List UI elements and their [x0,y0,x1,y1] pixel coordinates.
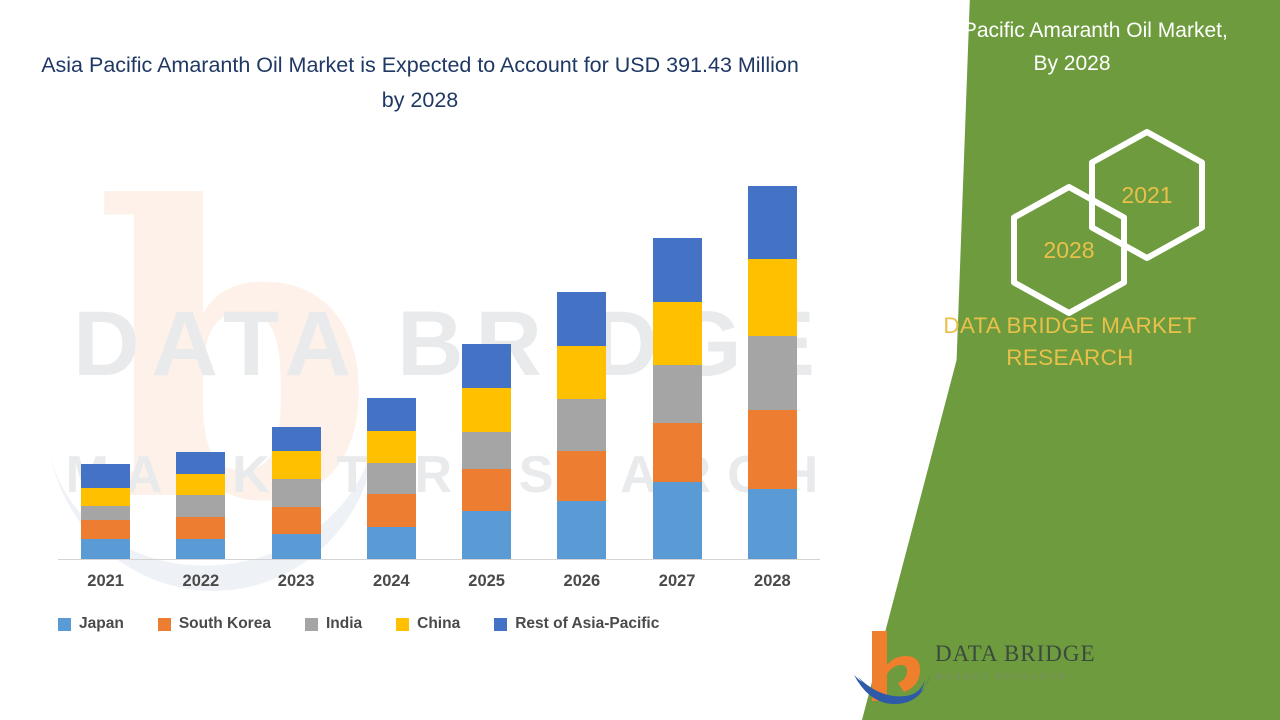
chart-panel: b DATA BRIDGE MARKET RESEARCH Asia Pacif… [0,0,900,720]
bar-segment[interactable] [367,527,416,559]
x-axis-label-2025: 2025 [439,572,534,591]
bar-segment[interactable] [557,451,606,500]
hexagon-2028-label: 2028 [1010,183,1128,317]
bar-segment[interactable] [748,489,797,559]
x-axis-label-2026: 2026 [534,572,629,591]
bar-segment[interactable] [81,539,130,559]
bar-segment[interactable] [272,451,321,478]
bar-segment[interactable] [748,410,797,489]
brand-panel: Asia Pacific Amaranth Oil Market, By 202… [840,0,1280,720]
bar-column-2024 [344,170,439,559]
bar-segment[interactable] [176,495,225,517]
brand-panel-title: Asia Pacific Amaranth Oil Market, By 202… [902,14,1242,80]
x-axis-labels: 20212022202320242025202620272028 [58,572,820,591]
legend-label: South Korea [179,615,271,633]
bar-column-2028 [725,170,820,559]
legend-item-south-korea[interactable]: South Korea [158,615,271,633]
bar-segment[interactable] [557,346,606,399]
x-axis-label-2028: 2028 [725,572,820,591]
x-axis-label-2022: 2022 [153,572,248,591]
bar-segment[interactable] [272,479,321,507]
logo-secondary-text: MARKET RESEARCH [935,671,1075,681]
bar-column-2023 [249,170,344,559]
legend-label: China [417,615,460,633]
chart-plot-area [58,170,820,560]
bar-stack[interactable] [557,292,606,559]
bar-segment[interactable] [272,427,321,451]
bar-segment[interactable] [653,365,702,423]
x-axis-label-2024: 2024 [344,572,439,591]
legend-item-rest-of-asia-pacific[interactable]: Rest of Asia-Pacific [494,615,659,633]
bar-segment[interactable] [176,539,225,559]
bar-segment[interactable] [462,511,511,559]
bar-column-2025 [439,170,534,559]
bar-segment[interactable] [557,292,606,346]
bar-stack[interactable] [272,427,321,559]
legend-swatch-icon [396,618,409,631]
bar-segment[interactable] [557,399,606,451]
chart-legend: JapanSouth KoreaIndiaChinaRest of Asia-P… [58,615,820,633]
x-axis-label-2021: 2021 [58,572,153,591]
bar-stack[interactable] [462,344,511,559]
legend-swatch-icon [58,618,71,631]
bar-segment[interactable] [367,431,416,463]
chart-title: Asia Pacific Amaranth Oil Market is Expe… [40,48,800,118]
bar-stack[interactable] [81,464,130,559]
bar-segment[interactable] [81,464,130,488]
hexagon-group: 2021 2028 [840,118,1280,288]
bar-segment[interactable] [653,423,702,481]
logo-text: DATA BRIDGE MARKET RESEARCH [935,641,1075,681]
bar-segment[interactable] [557,501,606,559]
bar-stack[interactable] [653,238,702,559]
legend-item-japan[interactable]: Japan [58,615,124,633]
bar-segment[interactable] [653,482,702,559]
bar-segment[interactable] [367,463,416,494]
data-bridge-logo: DATA BRIDGE MARKET RESEARCH [850,625,1080,707]
bar-column-2027 [630,170,725,559]
bar-stack[interactable] [176,452,225,559]
bar-stack[interactable] [748,186,797,559]
bar-segment[interactable] [653,302,702,365]
bar-segment[interactable] [462,432,511,468]
legend-swatch-icon [158,618,171,631]
bar-segment[interactable] [462,344,511,388]
legend-swatch-icon [305,618,318,631]
brand-name: DATA BRIDGE MARKET RESEARCH [900,310,1240,374]
legend-item-india[interactable]: India [305,615,362,633]
legend-swatch-icon [494,618,507,631]
x-axis-line [58,559,820,560]
legend-label: Rest of Asia-Pacific [515,615,659,633]
bar-segment[interactable] [176,452,225,474]
bar-segment[interactable] [748,336,797,410]
x-axis-label-2023: 2023 [249,572,344,591]
legend-item-china[interactable]: China [396,615,460,633]
bar-segment[interactable] [81,488,130,506]
bar-column-2022 [153,170,248,559]
legend-label: Japan [79,615,124,633]
bar-segment[interactable] [653,238,702,302]
bar-segment[interactable] [272,534,321,559]
bar-group [58,170,820,559]
logo-primary-text: DATA BRIDGE [935,641,1075,667]
bar-segment[interactable] [748,186,797,259]
bar-segment[interactable] [367,494,416,526]
bar-segment[interactable] [176,474,225,495]
bar-segment[interactable] [367,398,416,430]
bar-column-2021 [58,170,153,559]
bar-segment[interactable] [81,520,130,538]
bar-segment[interactable] [81,506,130,520]
bar-segment[interactable] [748,259,797,335]
bar-segment[interactable] [462,388,511,432]
hexagon-2028: 2028 [1010,183,1128,317]
bar-segment[interactable] [462,469,511,511]
bar-segment[interactable] [176,517,225,538]
logo-mark-icon [850,627,932,705]
bar-stack[interactable] [367,398,416,559]
x-axis-label-2027: 2027 [630,572,725,591]
bar-column-2026 [534,170,629,559]
bar-segment[interactable] [272,507,321,534]
legend-label: India [326,615,362,633]
